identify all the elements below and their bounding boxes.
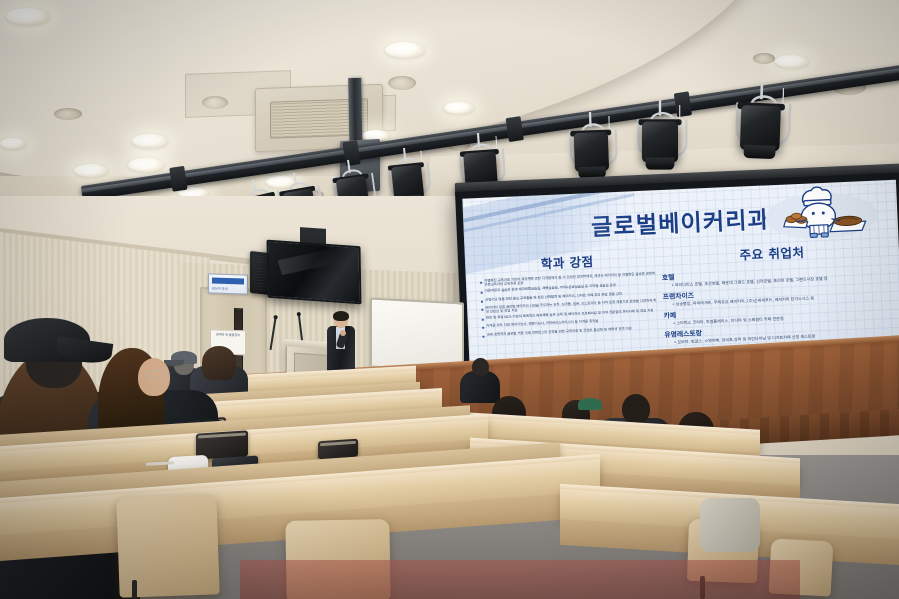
recessed-downlight	[6, 8, 50, 25]
spotlight-lens	[646, 158, 675, 170]
recessed-downlight	[444, 102, 474, 114]
lecture-hall-photo: 관계자 외 출입금지 비상구 안내 글로벌베이커리과	[0, 0, 899, 599]
emergency-exit-sign: 비상구 안내	[208, 273, 248, 294]
bullet-dot-icon: ■	[481, 298, 484, 304]
bullet-dot-icon: ■	[480, 290, 483, 296]
ceiling-vent	[753, 53, 775, 64]
recessed-downlight	[775, 55, 809, 68]
truss-mount	[342, 140, 360, 166]
wall-mounted-display	[267, 240, 362, 305]
recessed-downlight	[128, 158, 164, 172]
bullet-dot-icon: ■	[482, 333, 485, 339]
ceiling-vent	[388, 76, 416, 90]
recessed-downlight	[385, 42, 425, 58]
ceiling-vent	[54, 108, 82, 120]
spotlight-lens	[743, 145, 775, 159]
person-head	[622, 394, 650, 424]
person-hair	[202, 346, 236, 380]
chair-leg	[132, 580, 137, 599]
bullet-dot-icon: ■	[481, 317, 484, 323]
truss-mount	[169, 166, 187, 192]
spotlight-body	[642, 122, 678, 163]
recessed-downlight	[74, 164, 108, 177]
person-head	[472, 358, 489, 376]
recessed-downlight	[132, 134, 168, 148]
bullet-dot-icon: ■	[481, 307, 484, 315]
slide-left-column: 학과 강점 ■차별화된 교육과정 기반의 제과제빵 관련 자격증에서 볼 수 있…	[479, 248, 659, 341]
recessed-downlight	[0, 138, 26, 149]
eyeglasses-icon	[146, 370, 168, 379]
cap-icon	[578, 398, 602, 410]
bullet-dot-icon: ■	[482, 325, 485, 331]
presenter-hand	[340, 330, 346, 336]
person-legs	[700, 498, 760, 552]
truss-mount	[506, 116, 524, 142]
sign-text: 비상구 안내	[212, 285, 228, 291]
bullet-dot-icon: ■	[480, 280, 483, 288]
presenter-hair	[333, 311, 349, 321]
left-column-bullets: ■차별화된 교육과정 기반의 제과제빵 관련 자격증에서 볼 수 있었던 창의력…	[480, 272, 658, 339]
left-column-heading: 학과 강점	[479, 248, 656, 275]
sign-bar	[212, 277, 244, 284]
ceiling-vent	[202, 96, 228, 109]
right-column-heading: 주요 취업처	[661, 238, 884, 267]
floor-mat	[240, 560, 800, 599]
